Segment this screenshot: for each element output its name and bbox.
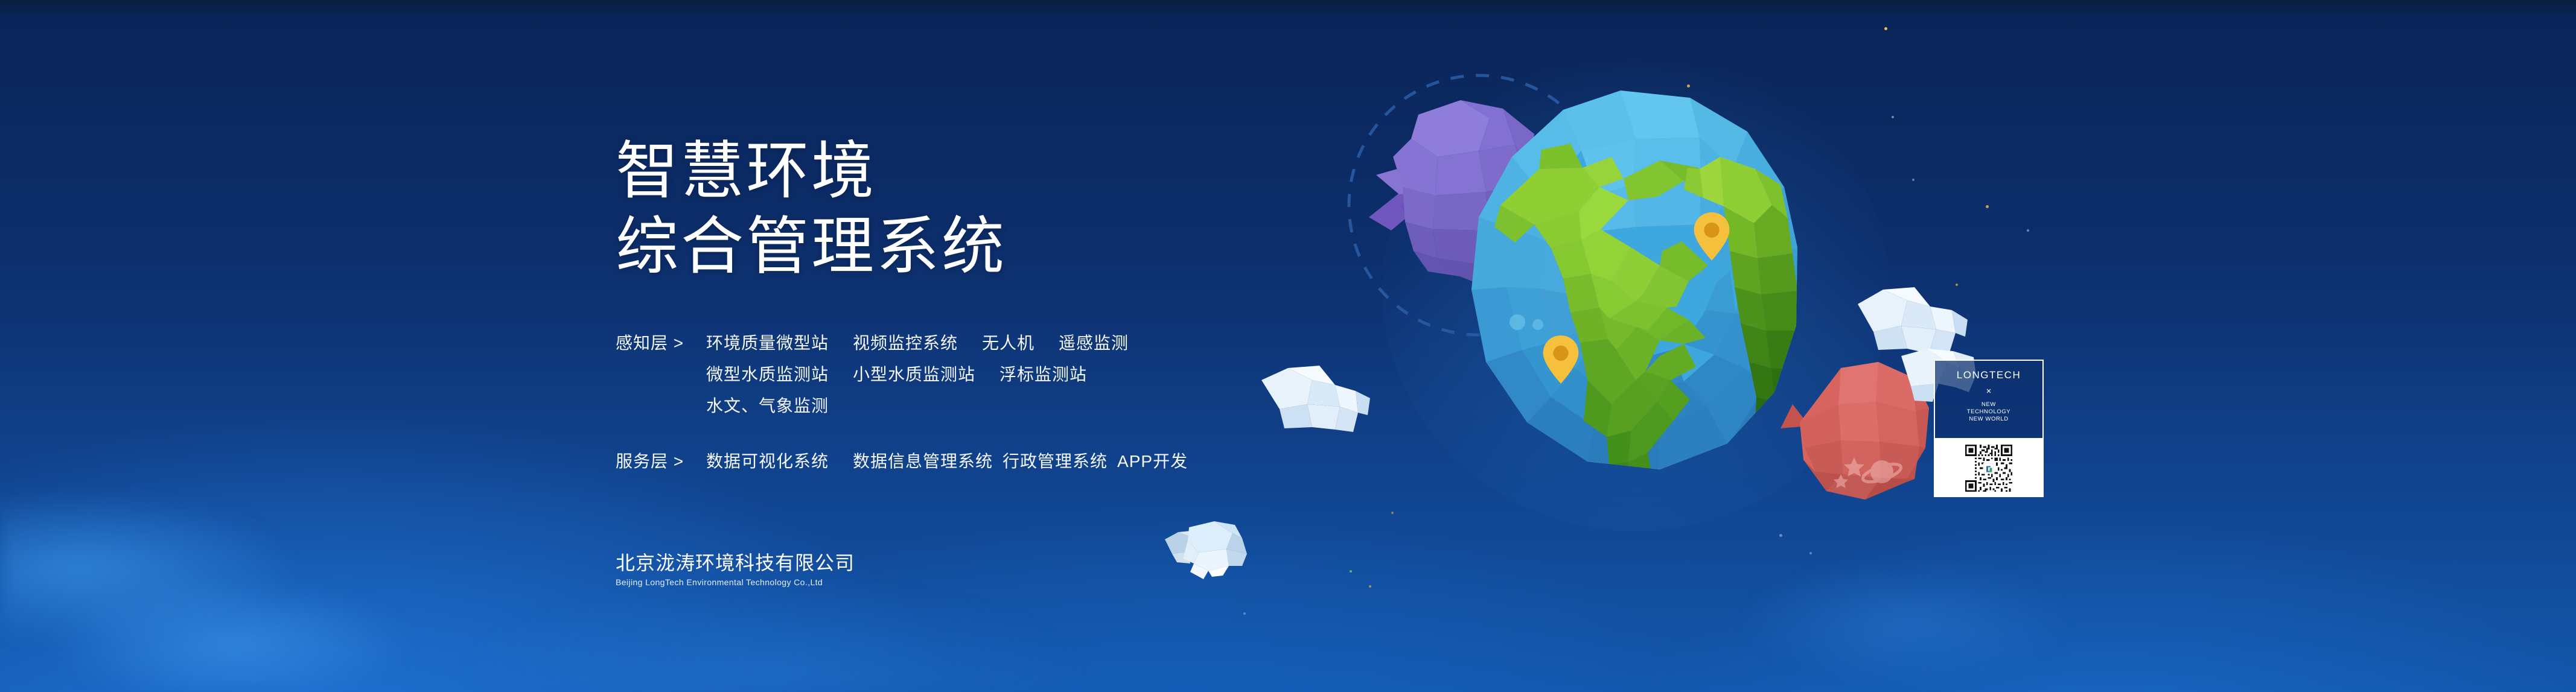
layer-item-line: 水文、气象监测 [706, 393, 1129, 419]
qr-card-header: LONGTECH × NEW TECHNOLOGY NEW WORLD [1934, 360, 2044, 439]
layer-item[interactable]: 数据信息管理系统 [853, 449, 993, 474]
layer-label-service: 服务层 > [616, 449, 706, 474]
layer-item[interactable]: APP开发 [1117, 449, 1188, 474]
background-top-fade [0, 0, 2576, 16]
layer-item[interactable]: 遥感监测 [1059, 331, 1129, 356]
qr-brand-name: LONGTECH [1957, 369, 2021, 381]
wechat-qr-code-icon[interactable] [1965, 445, 2012, 492]
layer-item[interactable]: 视频监控系统 [853, 331, 958, 356]
company-name-cn: 北京泷涛环境科技有限公司 [616, 551, 855, 575]
qr-tagline: NEW TECHNOLOGY NEW WORLD [1967, 401, 2011, 423]
layer-list: 感知层 > 环境质量微型站 视频监控系统 无人机 遥感监测 微型水质监测站 小型… [616, 331, 1461, 474]
headline-line-2: 综合管理系统 [616, 209, 1461, 285]
layer-item[interactable]: 小型水质监测站 [853, 362, 975, 387]
layer-item[interactable]: 数据可视化系统 [706, 449, 829, 474]
layer-item[interactable]: 浮标监测站 [999, 362, 1087, 387]
layer-item-line: 数据可视化系统 数据信息管理系统 行政管理系统 APP开发 [706, 449, 1188, 474]
qr-tagline-line-1: NEW [1967, 401, 2011, 408]
layer-item-line: 环境质量微型站 视频监控系统 无人机 遥感监测 [706, 331, 1129, 356]
layer-item-line: 微型水质监测站 小型水质监测站 浮标监测站 [706, 362, 1129, 387]
qr-tagline-line-3: NEW WORLD [1967, 416, 2011, 423]
hero-banner: 智慧环境 综合管理系统 感知层 > 环境质量微型站 视频监控系统 无人机 遥感监… [0, 0, 2576, 692]
layer-item[interactable]: 无人机 [982, 331, 1035, 356]
qr-separator-icon: × [1986, 385, 1992, 398]
layer-item[interactable]: 行政管理系统 [1003, 449, 1108, 474]
company-name-en: Beijing LongTech Environmental Technolog… [616, 576, 855, 588]
layer-items-perception: 环境质量微型站 视频监控系统 无人机 遥感监测 微型水质监测站 小型水质监测站 … [706, 331, 1129, 419]
qr-code-container[interactable] [1934, 439, 2044, 497]
layer-items-service: 数据可视化系统 数据信息管理系统 行政管理系统 APP开发 [706, 449, 1188, 474]
layer-item[interactable]: 水文、气象监测 [706, 393, 829, 419]
layer-item[interactable]: 微型水质监测站 [706, 362, 829, 387]
layer-item[interactable]: 环境质量微型站 [706, 331, 829, 356]
layer-label-perception: 感知层 > [616, 331, 706, 356]
cloud-bottom-left [1156, 516, 1277, 589]
qr-tagline-line-2: TECHNOLOGY [1967, 408, 2011, 416]
layer-row-perception: 感知层 > 环境质量微型站 视频监控系统 无人机 遥感监测 微型水质监测站 小型… [616, 331, 1461, 419]
hero-text-column: 智慧环境 综合管理系统 感知层 > 环境质量微型站 视频监控系统 无人机 遥感监… [616, 134, 1461, 474]
company-block: 北京泷涛环境科技有限公司 Beijing LongTech Environmen… [616, 551, 855, 588]
qr-card[interactable]: LONGTECH × NEW TECHNOLOGY NEW WORLD [1934, 360, 2044, 497]
headline-line-1: 智慧环境 [616, 134, 1461, 209]
layer-row-service: 服务层 > 数据可视化系统 数据信息管理系统 行政管理系统 APP开发 [616, 449, 1461, 474]
